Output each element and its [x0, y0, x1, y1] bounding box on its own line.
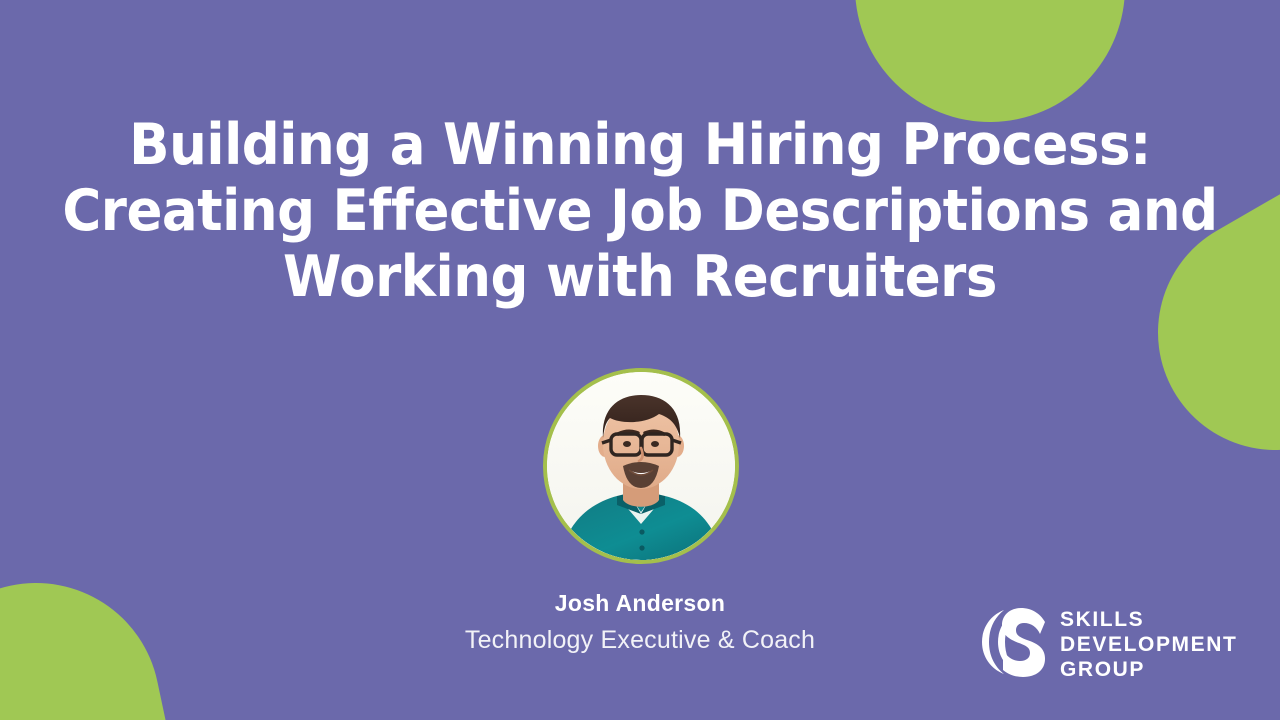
title-line-1: Building a Winning Hiring Process:: [45, 112, 1235, 178]
skills-development-group-mark-icon: [982, 606, 1048, 683]
brand-logo: SKILLS DEVELOPMENT GROUP: [982, 606, 1237, 683]
logo-wordmark: SKILLS DEVELOPMENT GROUP: [1060, 607, 1237, 682]
title-slide: Building a Winning Hiring Process: Creat…: [0, 0, 1280, 720]
logo-line-skills: SKILLS: [1060, 607, 1237, 632]
logo-line-development: DEVELOPMENT: [1060, 632, 1237, 657]
avatar: [543, 368, 739, 564]
logo-line-group: GROUP: [1060, 657, 1237, 682]
title-line-2: Creating Effective Job Descriptions and: [45, 178, 1235, 244]
page-title: Building a Winning Hiring Process: Creat…: [0, 112, 1280, 310]
avatar-photo: [547, 372, 735, 560]
title-line-3: Working with Recruiters: [45, 244, 1235, 310]
